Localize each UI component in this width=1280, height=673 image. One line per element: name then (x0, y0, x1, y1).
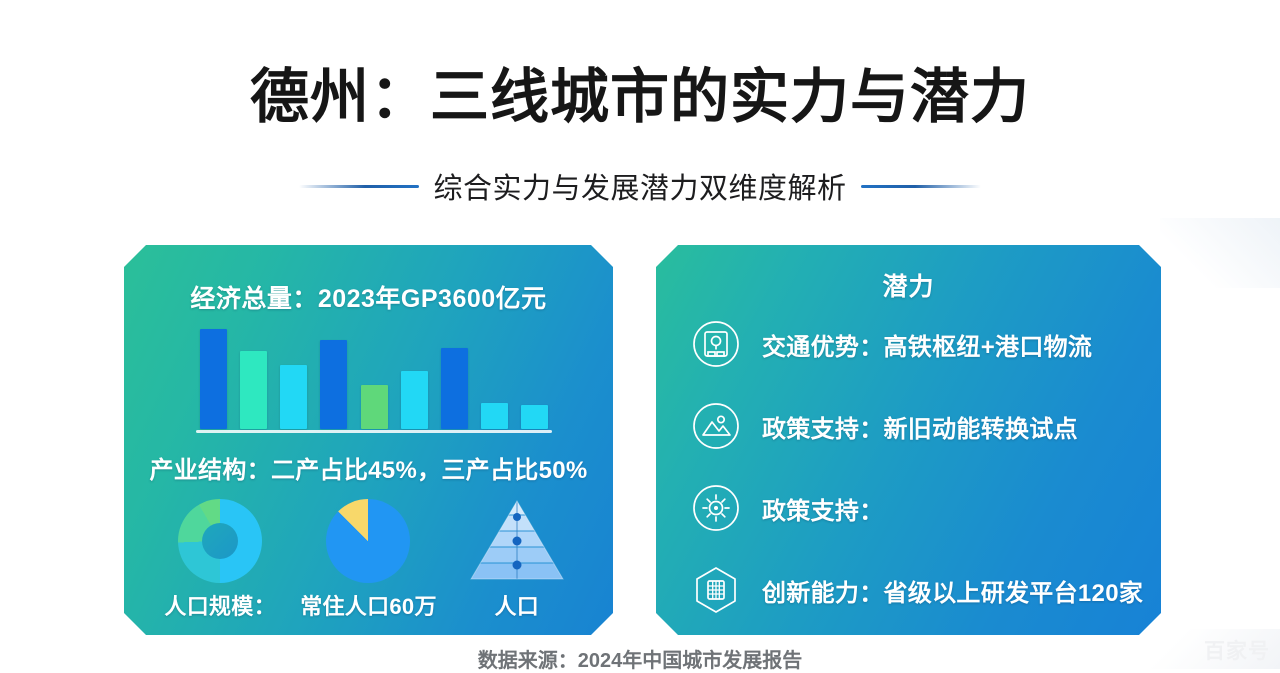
strength-card: 经济总量：2023年GP3600亿元 产业结构：二产占比45%，三产占比50% … (124, 245, 613, 635)
bar-8 (481, 403, 508, 429)
pie-shape (326, 499, 410, 583)
mini-label-0: 人口规模： (150, 589, 290, 621)
pyramid-shape (467, 499, 567, 583)
potential-card: 潜力 交通优势：高铁枢纽+港口物流 (656, 245, 1161, 635)
mountain-image-icon (690, 400, 742, 452)
subtitle-rule-right (861, 185, 981, 188)
donut-shape (178, 499, 262, 583)
page-title: 德州：三线城市的实力与潜力 (0, 66, 1280, 130)
bar-5 (361, 385, 388, 429)
economy-bar-chart (200, 329, 548, 429)
potential-item-transport[interactable]: 交通优势：高铁枢纽+港口物流 (690, 303, 1141, 385)
bar-3 (280, 365, 307, 429)
subtitle-row: 综合实力与发展潜力双维度解析 (0, 165, 1280, 207)
mini-label-1: 常住人口60万 (298, 589, 438, 621)
potential-item-text-0: 交通优势：高铁枢纽+港口物流 (762, 327, 1092, 362)
decor-corner-top-right (1160, 218, 1280, 288)
potential-item-policy[interactable]: 政策支持：新旧动能转换试点 (690, 385, 1141, 467)
bar-2 (240, 351, 267, 429)
sun-gear-icon (690, 482, 742, 534)
donut-chart-icon (150, 495, 290, 587)
potential-item-text-3: 创新能力：省级以上研发平台120家 (762, 573, 1143, 608)
bar-4 (320, 340, 347, 429)
pie-chart-icon (298, 495, 438, 587)
infographic-canvas: 德州：三线城市的实力与潜力 综合实力与发展潜力双维度解析 经济总量：2023年G… (0, 0, 1280, 669)
mini-label-2: 人口 (447, 589, 587, 621)
economy-headline: 经济总量：2023年GP3600亿元 (124, 279, 613, 315)
bar-1 (200, 329, 227, 429)
mini-chart-population-scale: 人口规模： (150, 495, 290, 621)
potential-item-list: 交通优势：高铁枢纽+港口物流 政策支持：新旧动能转换试点 (690, 303, 1141, 631)
mini-chart-resident-population: 常住人口60万 (298, 495, 438, 621)
bar-chart-baseline (196, 430, 552, 433)
industry-structure-line: 产业结构：二产占比45%，三产占比50% (124, 450, 613, 485)
potential-item-text-2: 政策支持： (762, 491, 884, 526)
potential-item-innovation[interactable]: 创新能力：省级以上研发平台120家 (690, 549, 1141, 631)
mini-chart-population-pyramid: 人口 (447, 495, 587, 621)
pyramid-chart-icon (447, 495, 587, 587)
document-photo-icon (690, 318, 742, 370)
chip-hexagon-icon (690, 564, 742, 616)
potential-item-policy-2[interactable]: 政策支持： (690, 467, 1141, 549)
bar-9 (521, 405, 548, 429)
mini-charts-row: 人口规模： 常住人口60万 (146, 495, 591, 615)
potential-card-title: 潜力 (656, 267, 1161, 303)
subtitle-rule-left (299, 185, 419, 188)
bar-6 (401, 371, 428, 429)
potential-item-text-1: 政策支持：新旧动能转换试点 (762, 409, 1078, 444)
watermark-label: 百家号 (1204, 635, 1270, 665)
bar-7 (441, 348, 468, 429)
page-subtitle: 综合实力与发展潜力双维度解析 (433, 165, 846, 207)
